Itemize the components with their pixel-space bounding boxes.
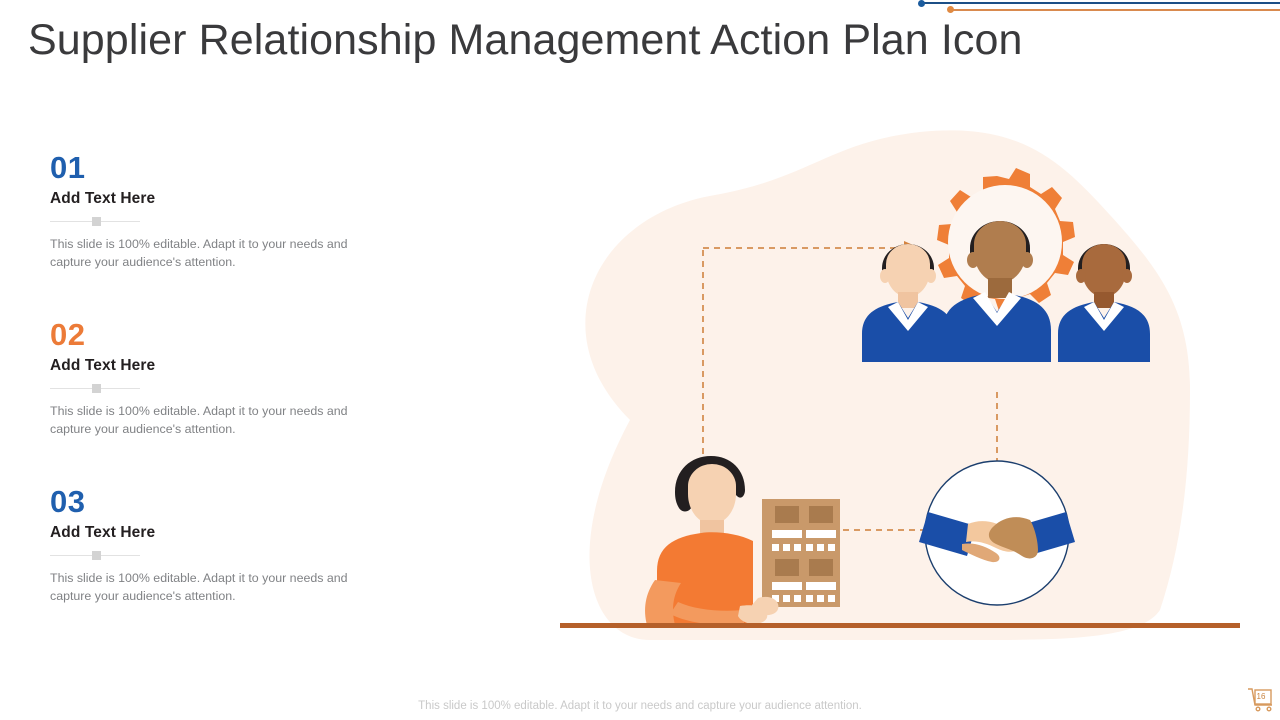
item-heading: Add Text Here (50, 522, 390, 544)
item-heading: Add Text Here (50, 355, 390, 377)
slide-canvas: Supplier Relationship Management Action … (0, 0, 1280, 720)
item-divider (50, 216, 140, 227)
person-ear-left (880, 269, 890, 283)
box-label-dark-4 (809, 559, 833, 576)
page-title: Supplier Relationship Management Action … (28, 16, 1178, 65)
person-ear-left (967, 252, 979, 268)
list-item: 02 Add Text Here This slide is 100% edit… (50, 317, 390, 438)
person-neck (1094, 292, 1114, 308)
person-head (1082, 244, 1126, 297)
box-label-dark-1 (775, 506, 799, 523)
box-label-dark-3 (775, 559, 799, 576)
decor-dot-blue-icon (918, 0, 925, 7)
person-head (974, 221, 1026, 283)
box-label-dark-2 (809, 506, 833, 523)
ground-line (560, 623, 1240, 628)
box-label-white-4 (806, 582, 836, 590)
item-body: This slide is 100% editable. Adapt it to… (50, 402, 380, 438)
person-ear-right (1122, 269, 1132, 283)
divider-marker-icon (92, 384, 101, 393)
page-number: 16 (1254, 692, 1268, 702)
item-number: 02 (50, 317, 390, 353)
list-item: 01 Add Text Here This slide is 100% edit… (50, 150, 390, 271)
list-item: 03 Add Text Here This slide is 100% edit… (50, 484, 390, 605)
divider-marker-icon (92, 551, 101, 560)
decor-dot-orange-icon (947, 6, 954, 13)
box-label-white-2 (806, 530, 836, 538)
item-divider (50, 550, 140, 561)
page-number-badge: 16 (1246, 686, 1276, 714)
text-items-list: 01 Add Text Here This slide is 100% edit… (50, 150, 390, 629)
decor-rule-orange (950, 9, 1280, 11)
person-ear-right (1021, 252, 1033, 268)
footer-note: This slide is 100% editable. Adapt it to… (0, 700, 1280, 712)
item-body: This slide is 100% editable. Adapt it to… (50, 569, 380, 605)
supplier-relationship-flow-illustration (500, 120, 1280, 650)
item-number: 01 (50, 150, 390, 186)
item-heading: Add Text Here (50, 188, 390, 210)
package-box (762, 499, 840, 607)
item-number: 03 (50, 484, 390, 520)
person-ear-right (926, 269, 936, 283)
divider-marker-icon (92, 217, 101, 226)
box-label-white-1 (772, 530, 802, 538)
item-body: This slide is 100% editable. Adapt it to… (50, 235, 380, 271)
person-neck (898, 292, 918, 308)
person-ear-left (1076, 269, 1086, 283)
box-label-white-3 (772, 582, 802, 590)
person-head (886, 244, 930, 297)
decor-rule-blue (920, 2, 1280, 4)
worker-head (688, 464, 736, 524)
item-divider (50, 383, 140, 394)
